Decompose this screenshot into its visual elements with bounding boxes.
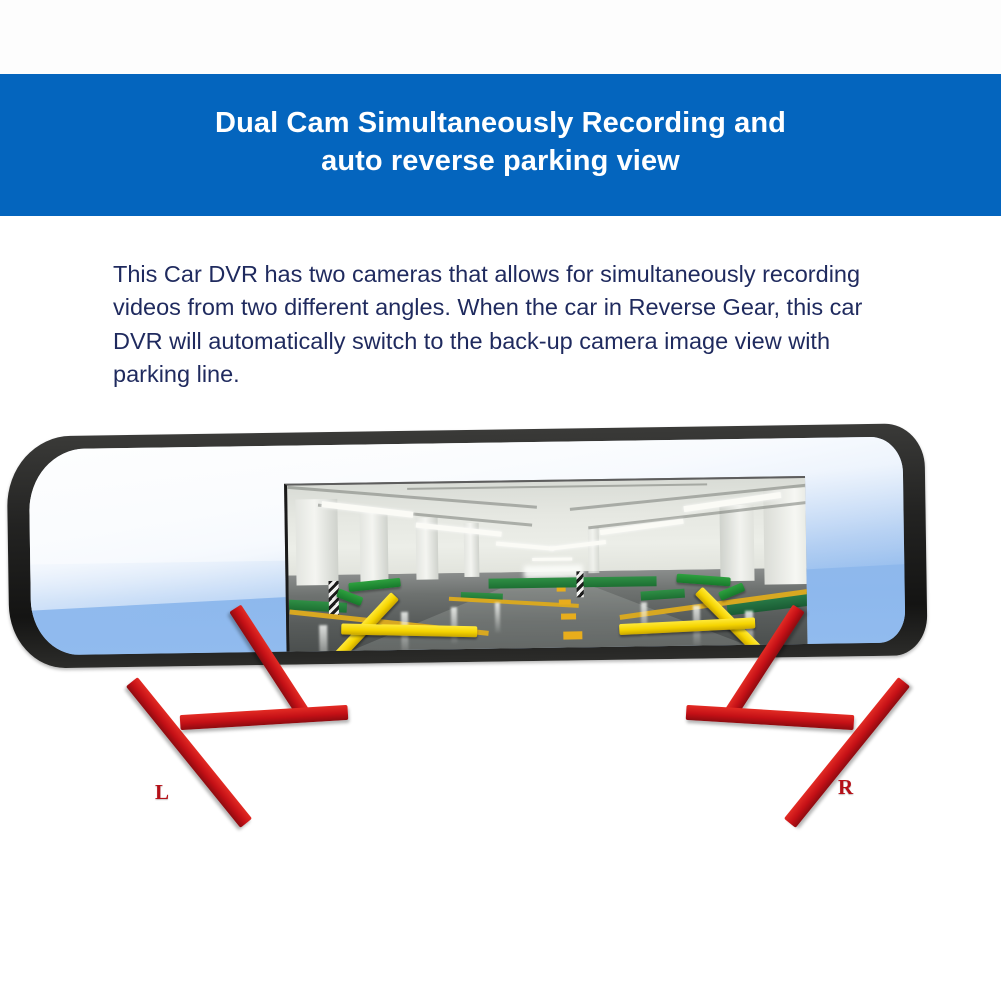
floor-reflection (319, 625, 328, 655)
camera-screen (284, 476, 808, 655)
external-parking-line-crossbar-right (686, 705, 855, 730)
external-parking-line-diagonal-left-lower (126, 677, 252, 828)
pillar (719, 505, 754, 581)
pillar (588, 527, 600, 573)
lane-dash (557, 588, 566, 592)
hazard-post (576, 571, 583, 597)
product-feature-page: Dual Cam Simultaneously Recording and au… (0, 0, 1001, 1001)
header-banner: Dual Cam Simultaneously Recording and au… (0, 74, 1001, 216)
external-parking-line-crossbar-left (180, 705, 349, 730)
corridor-vanishing-glow (524, 565, 582, 578)
guardrail (594, 576, 656, 587)
floor-reflection (495, 603, 500, 633)
lane-dash (566, 653, 590, 655)
top-white-strip (0, 0, 1001, 74)
external-parking-line-diagonal-right-lower (784, 677, 910, 828)
lane-dash (561, 613, 576, 619)
description-text: This Car DVR has two cameras that allows… (113, 258, 903, 391)
pillar (359, 510, 388, 582)
mirror-glass (29, 437, 906, 656)
pillar (295, 499, 338, 586)
right-side-label: R (838, 775, 853, 800)
lane-dash (563, 631, 582, 639)
header-title: Dual Cam Simultaneously Recording and au… (215, 105, 786, 184)
left-side-label: L (155, 780, 169, 805)
lane-dash (559, 599, 571, 604)
ceiling-light (532, 557, 572, 561)
product-illustration: L R (0, 405, 1001, 875)
description-block: This Car DVR has two cameras that allows… (113, 258, 903, 391)
hazard-post (329, 581, 340, 615)
